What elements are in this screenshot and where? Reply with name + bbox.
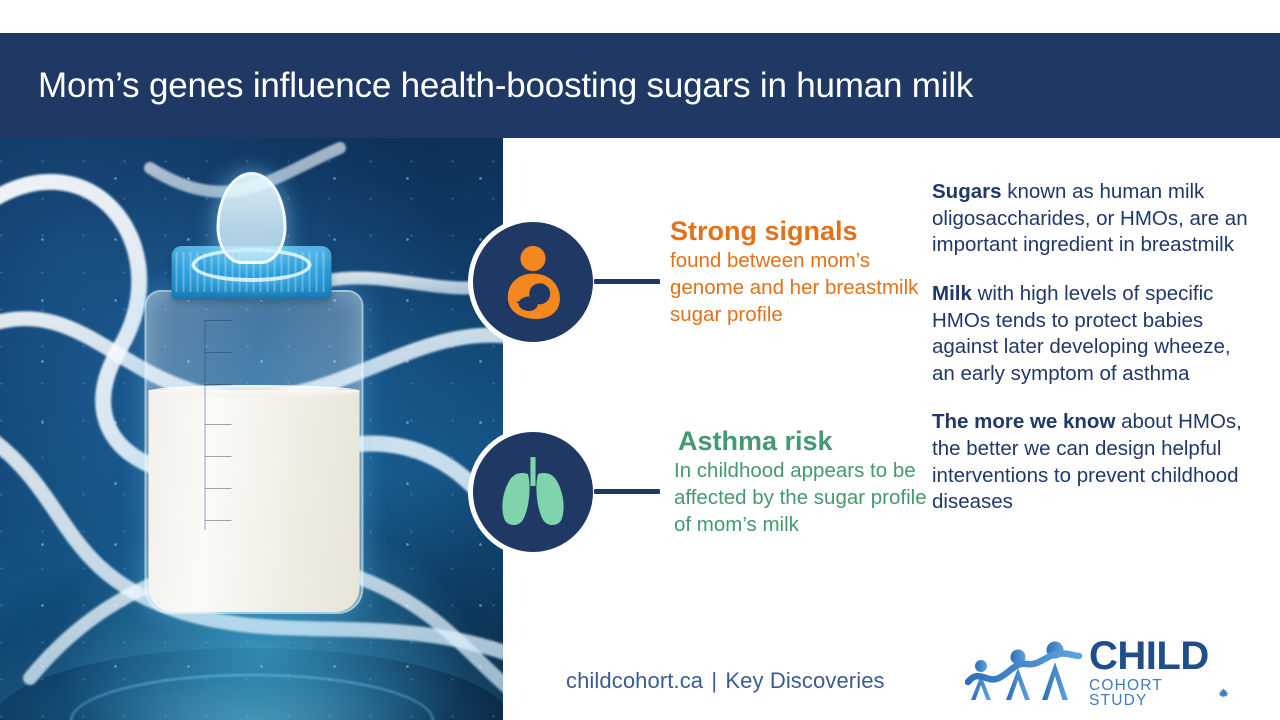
callout-title: Strong signals bbox=[670, 217, 930, 246]
callout-title: Asthma risk bbox=[674, 427, 934, 456]
footer-separator: | bbox=[709, 668, 719, 693]
callout-text: Asthma risk In childhood appears to be a… bbox=[674, 427, 934, 539]
fact-lead: Milk bbox=[932, 282, 972, 305]
page-title: Mom’s genes influence health-boosting su… bbox=[38, 66, 973, 106]
footer-section[interactable]: Key Discoveries bbox=[725, 668, 884, 693]
callout-connector-line bbox=[594, 489, 660, 494]
callout-badge bbox=[468, 217, 598, 347]
badge-circle bbox=[468, 427, 598, 557]
callout-strong-signals: Strong signals found between mom’s genom… bbox=[468, 217, 930, 347]
callout-badge bbox=[468, 427, 598, 557]
breastfeeding-icon bbox=[491, 240, 575, 324]
badge-circle bbox=[468, 217, 598, 347]
footer-link[interactable]: childcohort.ca | Key Discoveries bbox=[566, 668, 885, 694]
footer-site[interactable]: childcohort.ca bbox=[566, 668, 703, 693]
fact-lead: Sugars bbox=[932, 180, 1002, 203]
child-cohort-study-logo[interactable]: CHILD COHORT STUDY bbox=[965, 636, 1230, 708]
bottle-body bbox=[144, 290, 363, 614]
baby-bottle-illustration bbox=[144, 290, 359, 614]
fact-rest: with high levels of specific HMOs tends … bbox=[932, 282, 1231, 385]
fact-item: The more we know about HMOs, the better … bbox=[932, 409, 1252, 516]
callout-body: found between mom’s genome and her breas… bbox=[670, 248, 930, 329]
callout-body: In childhood appears to be affected by t… bbox=[674, 458, 934, 539]
maple-leaf-icon bbox=[1217, 687, 1230, 700]
fact-item: Sugars known as human milk oligosacchari… bbox=[932, 179, 1252, 259]
lungs-icon bbox=[490, 452, 576, 532]
facts-column: Sugars known as human milk oligosacchari… bbox=[932, 179, 1252, 538]
fact-lead: The more we know bbox=[932, 410, 1115, 433]
callout-asthma-risk: Asthma risk In childhood appears to be a… bbox=[468, 427, 934, 557]
logo-name: CHILD bbox=[1089, 636, 1230, 676]
header-bar: Mom’s genes influence health-boosting su… bbox=[0, 33, 1280, 138]
measurement-ticks bbox=[204, 320, 261, 530]
logo-wordmark: CHILD COHORT STUDY bbox=[1089, 636, 1230, 709]
callout-connector-line bbox=[594, 279, 660, 284]
hero-image: Ambalavanan A. et al, Nat Commun. 2024 S… bbox=[0, 138, 503, 720]
fact-item: Milk with high levels of specific HMOs t… bbox=[932, 281, 1252, 388]
logo-tagline: COHORT STUDY bbox=[1089, 678, 1211, 709]
logo-tagline-row: COHORT STUDY bbox=[1089, 678, 1230, 709]
callout-text: Strong signals found between mom’s genom… bbox=[670, 217, 930, 329]
logo-figures-icon bbox=[965, 640, 1083, 704]
